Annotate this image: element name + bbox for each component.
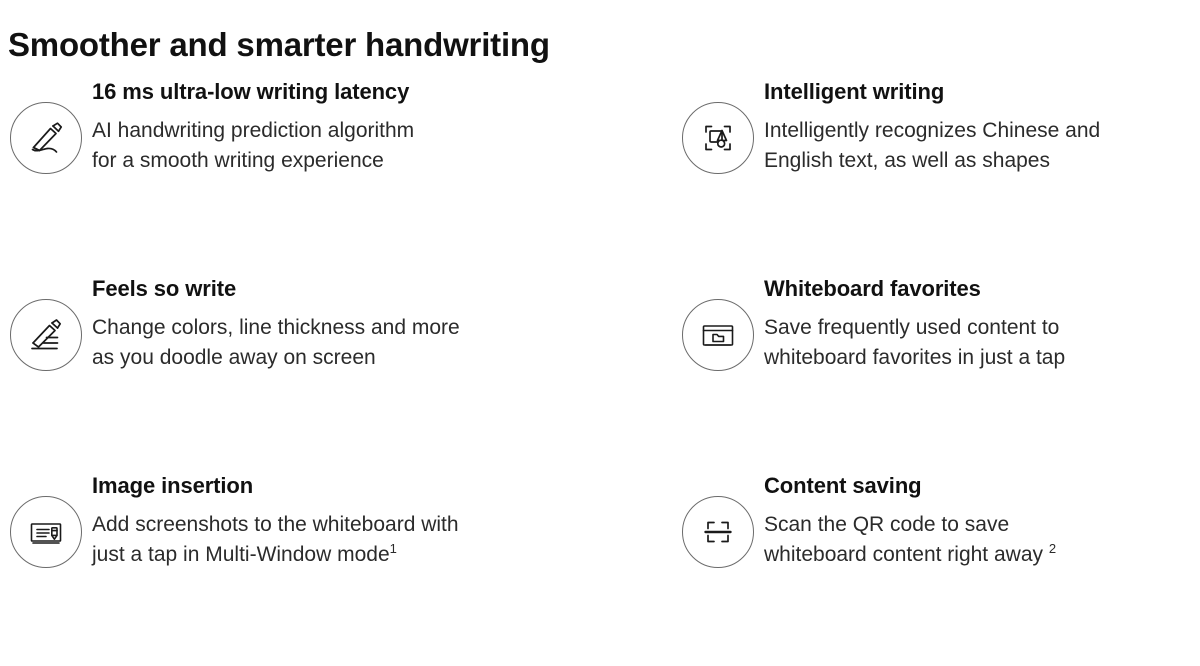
qr-scan-icon	[682, 496, 754, 568]
feature-description-line1: Scan the QR code to save	[764, 513, 1009, 536]
feature-description-line1: Save frequently used content to	[764, 316, 1059, 339]
feature-item-whiteboard-favorites: Whiteboard favorites Save frequently use…	[672, 269, 1200, 466]
feature-text-block: Content saving Scan the QR code to save …	[764, 466, 1190, 570]
feature-text-block: Whiteboard favorites Save frequently use…	[764, 269, 1190, 373]
feature-description: Change colors, line thickness and more a…	[92, 313, 612, 373]
feature-icon-container	[0, 269, 92, 371]
feature-description-line1: Add screenshots to the whiteboard with	[92, 513, 459, 536]
feature-title: 16 ms ultra-low writing latency	[92, 78, 666, 106]
feature-description: Add screenshots to the whiteboard with j…	[92, 510, 612, 570]
whiteboard-folder-icon	[682, 299, 754, 371]
feature-description: Intelligently recognizes Chinese and Eng…	[764, 116, 1184, 176]
feature-title: Intelligent writing	[764, 78, 1184, 106]
feature-text-block: Feels so write Change colors, line thick…	[92, 269, 672, 373]
feature-description-line1: AI handwriting prediction algorithm	[92, 119, 414, 142]
feature-text-block: Image insertion Add screenshots to the w…	[92, 466, 672, 570]
feature-title: Feels so write	[92, 275, 666, 303]
feature-item-image-insertion: Image insertion Add screenshots to the w…	[0, 466, 672, 666]
feature-text-block: 16 ms ultra-low writing latency AI handw…	[92, 72, 672, 176]
feature-page: Smoother and smarter handwriting 16 ms u…	[0, 0, 1200, 622]
shape-recognition-icon	[682, 102, 754, 174]
feature-description-line2: just a tap in Multi-Window mode	[92, 543, 390, 566]
pen-stroke-icon	[10, 102, 82, 174]
feature-footnote-marker: 2	[1049, 541, 1056, 556]
feature-description-line1: Change colors, line thickness and more	[92, 316, 460, 339]
feature-icon-container	[672, 72, 764, 174]
feature-item-writing-latency: 16 ms ultra-low writing latency AI handw…	[0, 72, 672, 269]
features-grid: 16 ms ultra-low writing latency AI handw…	[0, 72, 1200, 666]
feature-icon-container	[0, 466, 92, 568]
feature-title: Content saving	[764, 472, 1184, 500]
feature-description-line2: whiteboard content right away	[764, 543, 1049, 566]
feature-description: Save frequently used content to whiteboa…	[764, 313, 1184, 373]
page-title: Smoother and smarter handwriting	[8, 26, 550, 64]
feature-description: AI handwriting prediction algorithm for …	[92, 116, 612, 176]
feature-description: Scan the QR code to save whiteboard cont…	[764, 510, 1184, 570]
feature-description-line2: as you doodle away on screen	[92, 346, 376, 369]
image-card-pen-icon	[10, 496, 82, 568]
feature-description-line2: whiteboard favorites in just a tap	[764, 346, 1065, 369]
feature-icon-container	[672, 466, 764, 568]
pencil-lines-icon	[10, 299, 82, 371]
feature-icon-container	[0, 72, 92, 174]
feature-text-block: Intelligent writing Intelligently recogn…	[764, 72, 1190, 176]
feature-title: Whiteboard favorites	[764, 275, 1184, 303]
feature-item-feels-so-write: Feels so write Change colors, line thick…	[0, 269, 672, 466]
feature-item-intelligent-writing: Intelligent writing Intelligently recogn…	[672, 72, 1200, 269]
feature-description-line2: for a smooth writing experience	[92, 149, 384, 172]
feature-item-content-saving: Content saving Scan the QR code to save …	[672, 466, 1200, 666]
feature-description-line1: Intelligently recognizes Chinese and	[764, 119, 1100, 142]
feature-description-line2: English text, as well as shapes	[764, 149, 1050, 172]
feature-icon-container	[672, 269, 764, 371]
feature-footnote-marker: 1	[390, 541, 397, 556]
feature-title: Image insertion	[92, 472, 666, 500]
